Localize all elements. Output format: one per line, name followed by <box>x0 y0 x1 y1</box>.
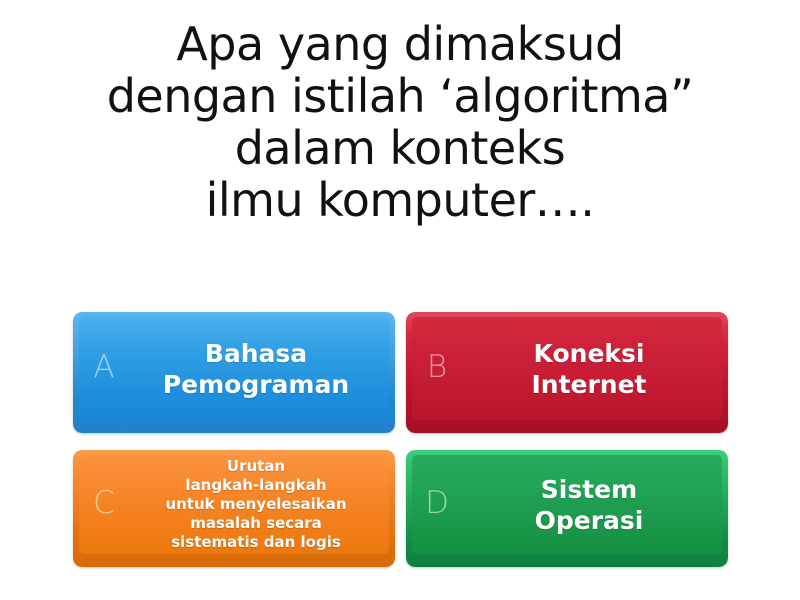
question-line: dalam konteks <box>235 122 566 174</box>
question-area: Apa yang dimaksud dengan istilah ‘algori… <box>0 18 800 288</box>
answer-option-c[interactable]: C Urutan langkah-langkah untuk menyelesa… <box>73 450 395 567</box>
answer-option-a[interactable]: A Bahasa Pemograman <box>73 312 395 433</box>
answer-text: Bahasa Pemograman <box>135 338 387 400</box>
answer-letter-badge: A <box>73 352 135 385</box>
answer-text-line: masalah secara <box>135 514 377 533</box>
answer-letter-badge: B <box>406 352 468 385</box>
answer-text: Koneksi Internet <box>468 338 720 400</box>
answer-text-line: Internet <box>468 369 710 400</box>
card-content: D Sistem Operasi <box>406 450 728 567</box>
question-line: dengan istilah ‘algoritma” <box>107 70 694 122</box>
answer-letter-badge: D <box>406 488 468 521</box>
question-line: Apa yang dimaksud <box>176 18 623 70</box>
answer-options-grid: A Bahasa Pemograman B Koneksi Internet C… <box>73 312 728 567</box>
card-content: C Urutan langkah-langkah untuk menyelesa… <box>73 450 395 567</box>
answer-text-line: Urutan <box>135 457 377 476</box>
card-content: B Koneksi Internet <box>406 312 728 433</box>
answer-letter-badge: C <box>73 488 135 521</box>
question-line: ilmu komputer…. <box>206 174 595 226</box>
answer-text-line: Bahasa <box>135 338 377 369</box>
answer-option-d[interactable]: D Sistem Operasi <box>406 450 728 567</box>
answer-text-line: Operasi <box>468 505 710 536</box>
answer-text-line: Koneksi <box>468 338 710 369</box>
answer-text-line: sistematis dan logis <box>135 533 377 552</box>
answer-text-line: Sistem <box>468 474 710 505</box>
answer-text-line: Pemograman <box>135 369 377 400</box>
answer-option-b[interactable]: B Koneksi Internet <box>406 312 728 433</box>
answer-text: Sistem Operasi <box>468 474 720 536</box>
answer-text: Urutan langkah-langkah untuk menyelesaik… <box>135 457 387 552</box>
answer-text-line: langkah-langkah <box>135 476 377 495</box>
answer-text-line: untuk menyelesaikan <box>135 495 377 514</box>
card-content: A Bahasa Pemograman <box>73 312 395 433</box>
